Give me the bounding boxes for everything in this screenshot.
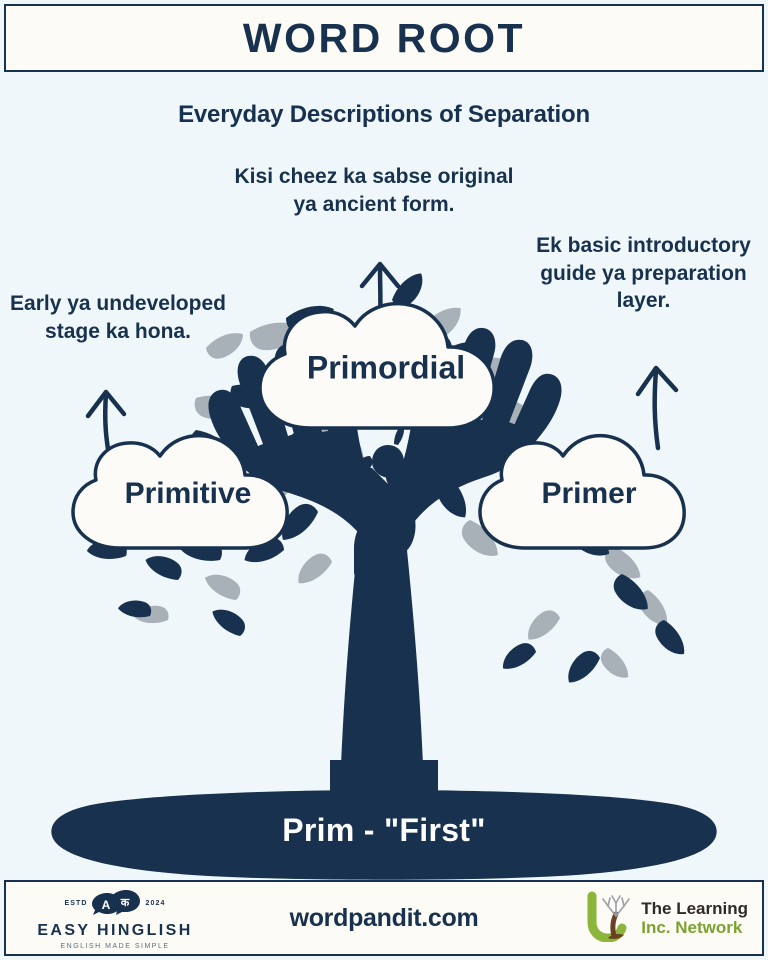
callout-primitive-description: Early ya undeveloped stage ka hona. — [8, 290, 228, 345]
easy-hinglish-logo: ESTD क A 2024 EASY HINGLISH ENGLISH MADE… — [20, 887, 210, 950]
svg-text:A: A — [101, 898, 110, 912]
infographic-page: WORD ROOT Everyday Descriptions of Separ… — [0, 0, 768, 960]
website-url[interactable]: wordpandit.com — [290, 904, 479, 933]
callout-primer-description: Ek basic introductory guide ya preparati… — [519, 232, 768, 315]
learning-network-logo: The Learning Inc. Network — [558, 890, 748, 947]
root-label: Prim - "First" — [0, 812, 768, 849]
learning-network-line2: Inc. Network — [641, 918, 748, 937]
logo-estd-label: ESTD — [64, 900, 87, 907]
word-bubble-primer[interactable]: Primer — [470, 432, 708, 556]
tree-u-icon — [584, 890, 636, 947]
logo-brand-name: EASY HINGLISH — [37, 922, 192, 940]
word-bubble-primitive[interactable]: Primitive — [62, 432, 314, 556]
logo-tagline: ENGLISH MADE SIMPLE — [60, 943, 169, 950]
logo-year-label: 2024 — [146, 900, 166, 907]
speech-bubbles-icon: क A — [92, 887, 142, 920]
learning-network-line1: The Learning — [641, 899, 748, 918]
footer-banner: ESTD क A 2024 EASY HINGLISH ENGLISH MADE… — [4, 880, 764, 956]
word-bubble-primordial[interactable]: Primordial — [248, 300, 524, 436]
svg-text:क: क — [119, 897, 129, 909]
callout-primordial-description: Kisi cheez ka sabse original ya ancient … — [229, 163, 519, 218]
